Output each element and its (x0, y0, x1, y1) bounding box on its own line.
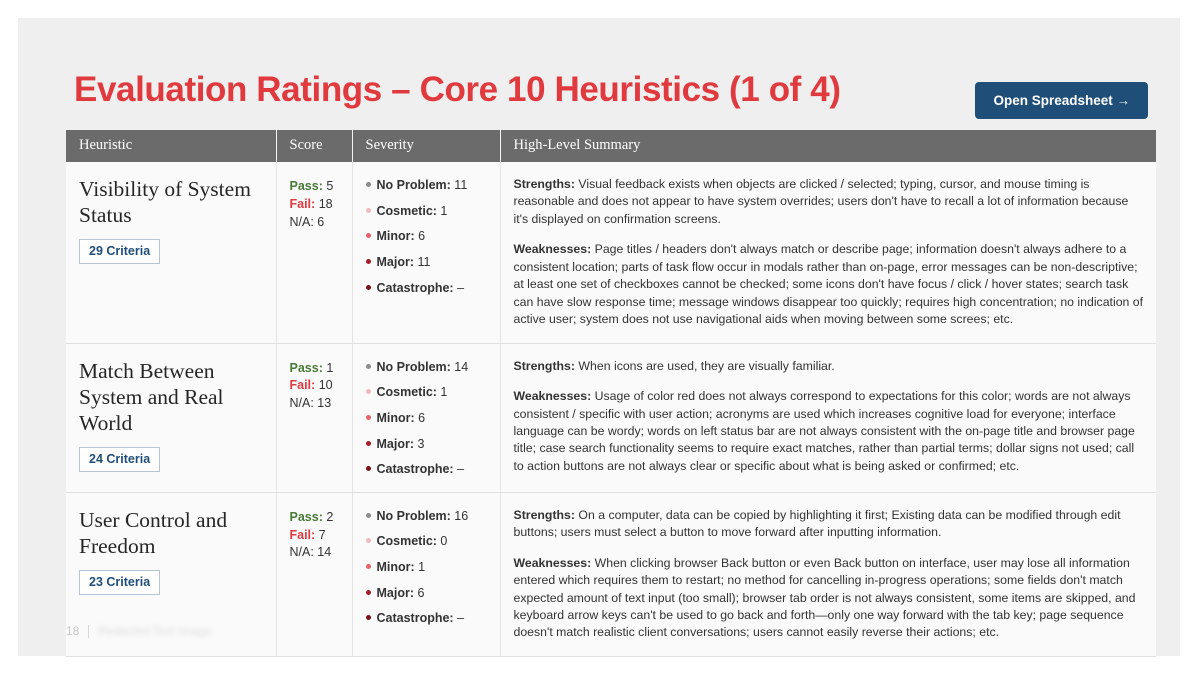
severity-major-label: Major: (377, 255, 415, 269)
table-row: User Control and Freedom23 CriteriaPass:… (66, 492, 1156, 656)
score-na-label: N/A: (290, 396, 314, 410)
severity-catastrophe-value: – (457, 281, 464, 295)
severity-catastrophe-label: Catastrophe: (377, 611, 454, 625)
summary-strengths-lead: Strengths: (514, 359, 576, 373)
summary-strengths-text: Visual feedback exists when objects are … (514, 177, 1129, 226)
severity-dot-icon (366, 441, 371, 446)
column-header-severity: Severity (352, 130, 500, 162)
cell-summary: Strengths: When icons are used, they are… (500, 343, 1156, 492)
severity-catastrophe-label: Catastrophe: (377, 462, 454, 476)
severity-minor: Minor: 6 (366, 411, 488, 427)
score-fail-label: Fail: (290, 528, 316, 542)
table-row: Match Between System and Real World24 Cr… (66, 343, 1156, 492)
summary-weaknesses-text: Usage of color red does not always corre… (514, 389, 1135, 473)
severity-cosmetic: Cosmetic: 1 (366, 204, 488, 220)
severity-cosmetic-value: 1 (440, 204, 447, 218)
summary-weaknesses-text: When clicking browser Back button or eve… (514, 556, 1136, 640)
severity-major: Major: 6 (366, 586, 488, 602)
score-pass-value: 5 (326, 179, 333, 193)
severity-dot-icon (366, 259, 371, 264)
severity-major-label: Major: (377, 586, 415, 600)
summary-block: Strengths: Visual feedback exists when o… (514, 174, 1145, 329)
table-body: Visibility of System Status29 CriteriaPa… (66, 162, 1156, 656)
summary-weaknesses: Weaknesses: Usage of color red does not … (514, 388, 1145, 475)
severity-no-problem: No Problem: 11 (366, 178, 488, 194)
summary-strengths: Strengths: On a computer, data can be co… (514, 507, 1145, 542)
footer-page-number: 18 (66, 624, 79, 638)
score-list: Pass: 5Fail: 18N/A: 6 (290, 174, 340, 231)
severity-cosmetic-value: 1 (440, 385, 447, 399)
severity-minor: Minor: 1 (366, 560, 488, 576)
heuristic-name: Match Between System and Real World (79, 356, 264, 437)
slide-header: Evaluation Ratings – Core 10 Heuristics … (58, 58, 1148, 120)
summary-weaknesses-lead: Weaknesses: (514, 556, 592, 570)
severity-major-value: 11 (417, 255, 430, 269)
score-na-label: N/A: (290, 545, 314, 559)
severity-no-problem-label: No Problem: (377, 360, 451, 374)
summary-strengths: Strengths: When icons are used, they are… (514, 358, 1145, 375)
summary-strengths-text: When icons are used, they are visually f… (578, 359, 834, 373)
cell-score: Pass: 2Fail: 7N/A: 14 (276, 492, 352, 656)
score-pass-value: 2 (326, 510, 333, 524)
severity-no-problem: No Problem: 14 (366, 360, 488, 376)
column-header-heuristic: Heuristic (66, 130, 276, 162)
summary-strengths-lead: Strengths: (514, 508, 576, 522)
severity-cosmetic: Cosmetic: 0 (366, 534, 488, 550)
summary-weaknesses-lead: Weaknesses: (514, 389, 592, 403)
score-pass: Pass: 2 (290, 509, 340, 527)
criteria-count-badge[interactable]: 24 Criteria (79, 447, 160, 472)
severity-list: No Problem: 11Cosmetic: 1Minor: 6Major: … (366, 174, 488, 296)
severity-no-problem: No Problem: 16 (366, 509, 488, 525)
score-na-label: N/A: (290, 215, 314, 229)
severity-no-problem-value: 11 (454, 178, 467, 192)
severity-dot-icon (366, 182, 371, 187)
heuristic-name: User Control and Freedom (79, 505, 264, 559)
severity-no-problem-label: No Problem: (377, 509, 451, 523)
severity-dot-icon (366, 466, 371, 471)
severity-minor: Minor: 6 (366, 229, 488, 245)
summary-strengths: Strengths: Visual feedback exists when o… (514, 176, 1145, 228)
severity-cosmetic-label: Cosmetic: (377, 385, 437, 399)
severity-dot-icon (366, 233, 371, 238)
score-pass-label: Pass: (290, 361, 323, 375)
severity-minor-value: 6 (418, 411, 425, 425)
severity-minor-value: 1 (418, 560, 425, 574)
severity-no-problem-label: No Problem: (377, 178, 451, 192)
severity-dot-icon (366, 285, 371, 290)
summary-weaknesses-text: Page titles / headers don't always match… (514, 242, 1144, 326)
severity-minor-label: Minor: (377, 229, 415, 243)
severity-no-problem-value: 14 (454, 360, 468, 374)
score-fail-value: 10 (319, 378, 333, 392)
score-na: N/A: 6 (290, 214, 340, 232)
severity-dot-icon (366, 389, 371, 394)
severity-catastrophe: Catastrophe: – (366, 611, 488, 627)
score-pass: Pass: 1 (290, 360, 340, 378)
score-fail-label: Fail: (290, 378, 316, 392)
score-fail-value: 7 (319, 528, 326, 542)
severity-cosmetic: Cosmetic: 1 (366, 385, 488, 401)
severity-catastrophe-value: – (457, 611, 464, 625)
severity-dot-icon (366, 415, 371, 420)
slide-canvas: Evaluation Ratings – Core 10 Heuristics … (18, 18, 1180, 656)
table-header: Heuristic Score Severity High-Level Summ… (66, 130, 1156, 162)
severity-dot-icon (366, 615, 371, 620)
table-row: Visibility of System Status29 CriteriaPa… (66, 162, 1156, 343)
cell-score: Pass: 5Fail: 18N/A: 6 (276, 162, 352, 343)
page-title: Evaluation Ratings – Core 10 Heuristics … (74, 70, 841, 110)
severity-minor-label: Minor: (377, 560, 415, 574)
score-fail-label: Fail: (290, 197, 316, 211)
score-na: N/A: 14 (290, 544, 340, 562)
summary-block: Strengths: When icons are used, they are… (514, 356, 1145, 476)
severity-catastrophe-label: Catastrophe: (377, 281, 454, 295)
severity-dot-icon (366, 564, 371, 569)
severity-major: Major: 3 (366, 437, 488, 453)
severity-list: No Problem: 14Cosmetic: 1Minor: 6Major: … (366, 356, 488, 478)
footer-divider (88, 625, 89, 638)
severity-dot-icon (366, 364, 371, 369)
summary-weaknesses: Weaknesses: When clicking browser Back b… (514, 555, 1145, 642)
severity-catastrophe: Catastrophe: – (366, 462, 488, 478)
severity-major: Major: 11 (366, 255, 488, 271)
summary-block: Strengths: On a computer, data can be co… (514, 505, 1145, 642)
column-header-score: Score (276, 130, 352, 162)
score-na-value: 13 (317, 396, 331, 410)
column-header-summary: High-Level Summary (500, 130, 1156, 162)
score-fail: Fail: 18 (290, 196, 340, 214)
score-na-value: 14 (317, 545, 331, 559)
severity-list: No Problem: 16Cosmetic: 0Minor: 1Major: … (366, 505, 488, 627)
score-pass-value: 1 (326, 361, 333, 375)
cell-severity: No Problem: 16Cosmetic: 0Minor: 1Major: … (352, 492, 500, 656)
score-pass-label: Pass: (290, 510, 323, 524)
criteria-count-badge[interactable]: 29 Criteria (79, 239, 160, 264)
summary-strengths-lead: Strengths: (514, 177, 576, 191)
cell-severity: No Problem: 11Cosmetic: 1Minor: 6Major: … (352, 162, 500, 343)
cell-severity: No Problem: 14Cosmetic: 1Minor: 6Major: … (352, 343, 500, 492)
score-fail: Fail: 7 (290, 527, 340, 545)
score-pass: Pass: 5 (290, 178, 340, 196)
severity-dot-icon (366, 590, 371, 595)
severity-cosmetic-label: Cosmetic: (377, 204, 437, 218)
summary-weaknesses: Weaknesses: Page titles / headers don't … (514, 241, 1145, 328)
severity-catastrophe: Catastrophe: – (366, 281, 488, 297)
severity-cosmetic-value: 0 (440, 534, 447, 548)
slide-footer: 18 Redacted Text Image (66, 624, 212, 638)
score-pass-label: Pass: (290, 179, 323, 193)
score-fail-value: 18 (319, 197, 333, 211)
score-na: N/A: 13 (290, 395, 340, 413)
severity-no-problem-value: 16 (454, 509, 468, 523)
severity-catastrophe-value: – (457, 462, 464, 476)
open-spreadsheet-button[interactable]: Open Spreadsheet → (975, 82, 1148, 119)
cell-heuristic: Visibility of System Status29 Criteria (66, 162, 276, 343)
table-header-row: Heuristic Score Severity High-Level Summ… (66, 130, 1156, 162)
cell-heuristic: Match Between System and Real World24 Cr… (66, 343, 276, 492)
footer-note-redacted: Redacted Text Image (98, 624, 211, 638)
score-list: Pass: 1Fail: 10N/A: 13 (290, 356, 340, 413)
criteria-count-badge[interactable]: 23 Criteria (79, 570, 160, 595)
cell-summary: Strengths: Visual feedback exists when o… (500, 162, 1156, 343)
score-fail: Fail: 10 (290, 377, 340, 395)
severity-minor-value: 6 (418, 229, 425, 243)
severity-major-value: 6 (417, 586, 424, 600)
heuristic-name: Visibility of System Status (79, 174, 264, 228)
severity-dot-icon (366, 208, 371, 213)
severity-major-value: 3 (417, 437, 424, 451)
score-list: Pass: 2Fail: 7N/A: 14 (290, 505, 340, 562)
summary-weaknesses-lead: Weaknesses: (514, 242, 592, 256)
summary-strengths-text: On a computer, data can be copied by hig… (514, 508, 1121, 539)
evaluation-ratings-table: Heuristic Score Severity High-Level Summ… (66, 130, 1156, 657)
cell-score: Pass: 1Fail: 10N/A: 13 (276, 343, 352, 492)
severity-dot-icon (366, 513, 371, 518)
cell-summary: Strengths: On a computer, data can be co… (500, 492, 1156, 656)
score-na-value: 6 (317, 215, 324, 229)
severity-dot-icon (366, 538, 371, 543)
severity-minor-label: Minor: (377, 411, 415, 425)
severity-cosmetic-label: Cosmetic: (377, 534, 437, 548)
severity-major-label: Major: (377, 437, 415, 451)
